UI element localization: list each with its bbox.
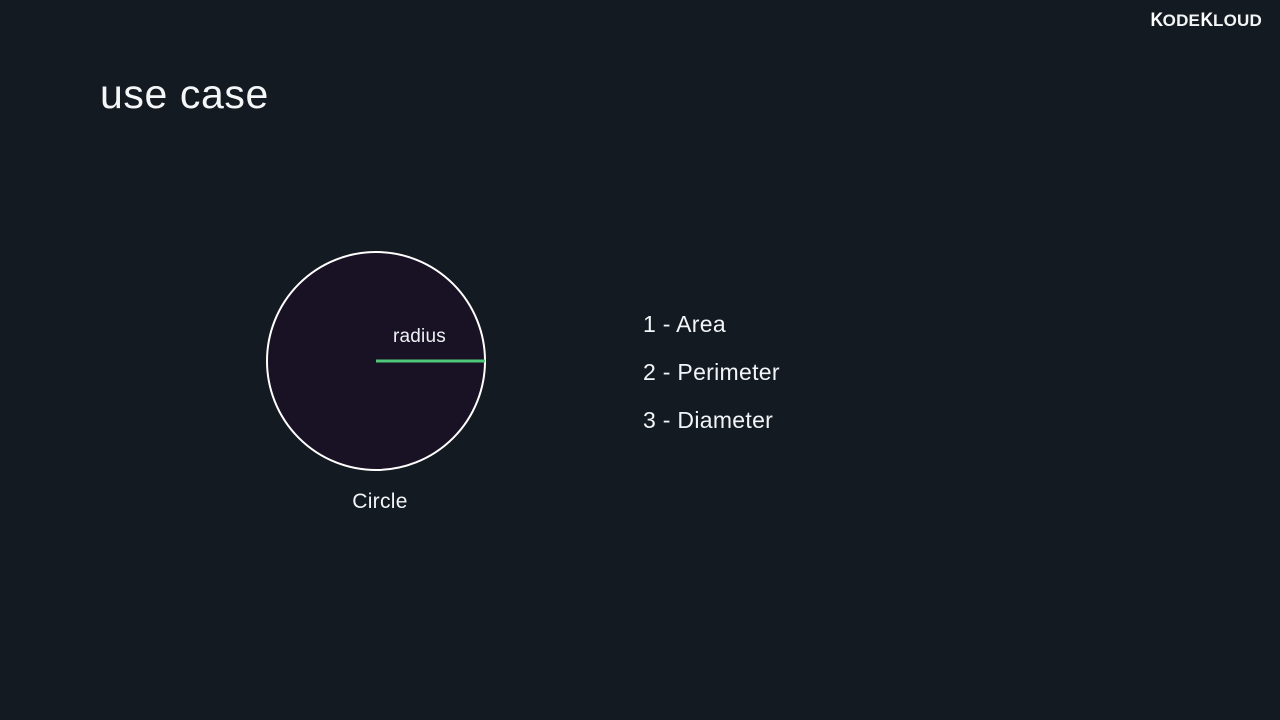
circle-diagram-svg	[265, 250, 487, 472]
brand-k-glyph-second: K	[1201, 11, 1214, 30]
brand-k-glyph-first: K	[1150, 11, 1163, 30]
radius-label: radius	[393, 326, 446, 348]
brand-text-loud: LOUD	[1213, 12, 1262, 29]
shape-caption: Circle	[265, 490, 495, 514]
list-item: 2 - Perimeter	[643, 358, 780, 387]
list-item: 1 - Area	[643, 310, 780, 339]
brand-text-ode: ODE	[1163, 12, 1200, 29]
list-item: 3 - Diameter	[643, 406, 780, 435]
brand-wordmark: KODEKLOUD	[1150, 11, 1262, 30]
slide-canvas: KODEKLOUD use case radius Circle 1 - Are…	[0, 0, 1280, 720]
page-title: use case	[100, 72, 269, 117]
circle-figure: radius Circle	[265, 250, 489, 472]
circle-shape-wrapper: radius	[265, 250, 487, 472]
operations-list: 1 - Area 2 - Perimeter 3 - Diameter	[643, 310, 780, 434]
kodekloud-logo: KODEKLOUD	[1150, 11, 1262, 30]
